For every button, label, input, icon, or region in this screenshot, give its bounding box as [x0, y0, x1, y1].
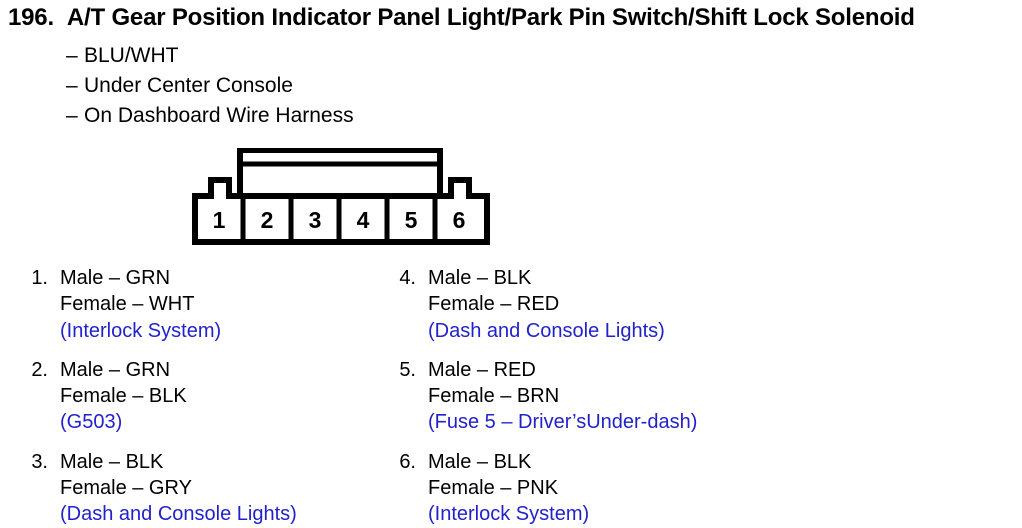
pin-female-wire: Female – BRN: [428, 383, 697, 409]
pin-male-wire: Male – RED: [428, 357, 697, 383]
pin-circuit-note: (Interlock System): [60, 318, 221, 344]
pin-circuit-note: (Fuse 5 – Driver’sUnder-dash): [428, 409, 697, 435]
attribute-item-wire-color: – BLU/WHT: [66, 41, 354, 71]
dash-icon: –: [66, 71, 84, 101]
pin-male-wire: Male – GRN: [60, 357, 187, 383]
pin-entry-number: 4.: [386, 265, 428, 291]
connector-diagram: 1 2 3 4 5 6: [191, 148, 491, 253]
connector-pin-4: 4: [357, 207, 370, 233]
dash-icon: –: [66, 41, 84, 71]
pin-male-wire: Male – BLK: [60, 449, 297, 475]
attribute-item-label: BLU/WHT: [84, 41, 179, 71]
pin-entry-number: 5.: [386, 357, 428, 383]
pin-female-wire: Female – PNK: [428, 475, 589, 501]
pin-entry-body: Male – BLK Female – PNK (Interlock Syste…: [428, 449, 589, 528]
attribute-item-label: On Dashboard Wire Harness: [84, 101, 354, 131]
connector-pin-6: 6: [453, 207, 466, 233]
connector-upper-outline: [240, 150, 440, 196]
attribute-item-label: Under Center Console: [84, 71, 293, 101]
connector-pin-3: 3: [309, 207, 322, 233]
dash-icon: –: [66, 101, 84, 131]
connector-svg: 1 2 3 4 5 6: [191, 148, 491, 248]
pin-circuit-note: (Interlock System): [428, 501, 589, 527]
pin-entry-number: 6.: [386, 449, 428, 475]
pin-female-wire: Female – GRY: [60, 475, 297, 501]
pin-entry-3: 3. Male – BLK Female – GRY (Dash and Con…: [18, 449, 297, 528]
pin-male-wire: Male – GRN: [60, 265, 221, 291]
pin-circuit-note: (Dash and Console Lights): [428, 318, 665, 344]
pin-entry-number: 3.: [18, 449, 60, 475]
attribute-item-harness: – On Dashboard Wire Harness: [66, 101, 354, 131]
pin-circuit-note: (Dash and Console Lights): [60, 501, 297, 527]
section-title-text: A/T Gear Position Indicator Panel Light/…: [67, 4, 915, 32]
connector-pin-1: 1: [213, 207, 226, 233]
pin-entry-body: Male – BLK Female – RED (Dash and Consol…: [428, 265, 665, 344]
pin-entry-body: Male – GRN Female – WHT (Interlock Syste…: [60, 265, 221, 344]
connector-upper-body: [240, 150, 440, 196]
pin-male-wire: Male – BLK: [428, 265, 665, 291]
attribute-item-location: – Under Center Console: [66, 71, 354, 101]
pin-entry-number: 2.: [18, 357, 60, 383]
pin-female-wire: Female – BLK: [60, 383, 187, 409]
pin-entry-5: 5. Male – RED Female – BRN (Fuse 5 – Dri…: [386, 357, 697, 436]
pin-circuit-note: (G503): [60, 409, 187, 435]
pin-entry-2: 2. Male – GRN Female – BLK (G503): [18, 357, 297, 436]
pin-female-wire: Female – RED: [428, 291, 665, 317]
pin-female-wire: Female – WHT: [60, 291, 221, 317]
pin-entry-1: 1. Male – GRN Female – WHT (Interlock Sy…: [18, 265, 297, 344]
pin-list-left: 1. Male – GRN Female – WHT (Interlock Sy…: [18, 265, 297, 528]
section-number: 196.: [8, 4, 54, 32]
connector-pin-2: 2: [261, 207, 274, 233]
pin-entry-body: Male – BLK Female – GRY (Dash and Consol…: [60, 449, 297, 528]
pin-entry-4: 4. Male – BLK Female – RED (Dash and Con…: [386, 265, 697, 344]
pin-entry-body: Male – RED Female – BRN (Fuse 5 – Driver…: [428, 357, 697, 436]
connector-pin-5: 5: [405, 207, 418, 233]
pin-entry-6: 6. Male – BLK Female – PNK (Interlock Sy…: [386, 449, 697, 528]
pin-entry-number: 1.: [18, 265, 60, 291]
pin-list-right: 4. Male – BLK Female – RED (Dash and Con…: [386, 265, 697, 528]
pin-entry-body: Male – GRN Female – BLK (G503): [60, 357, 187, 436]
page-title: 196. A/T Gear Position Indicator Panel L…: [8, 4, 1018, 32]
pin-male-wire: Male – BLK: [428, 449, 589, 475]
attribute-list: – BLU/WHT – Under Center Console – On Da…: [66, 41, 354, 131]
